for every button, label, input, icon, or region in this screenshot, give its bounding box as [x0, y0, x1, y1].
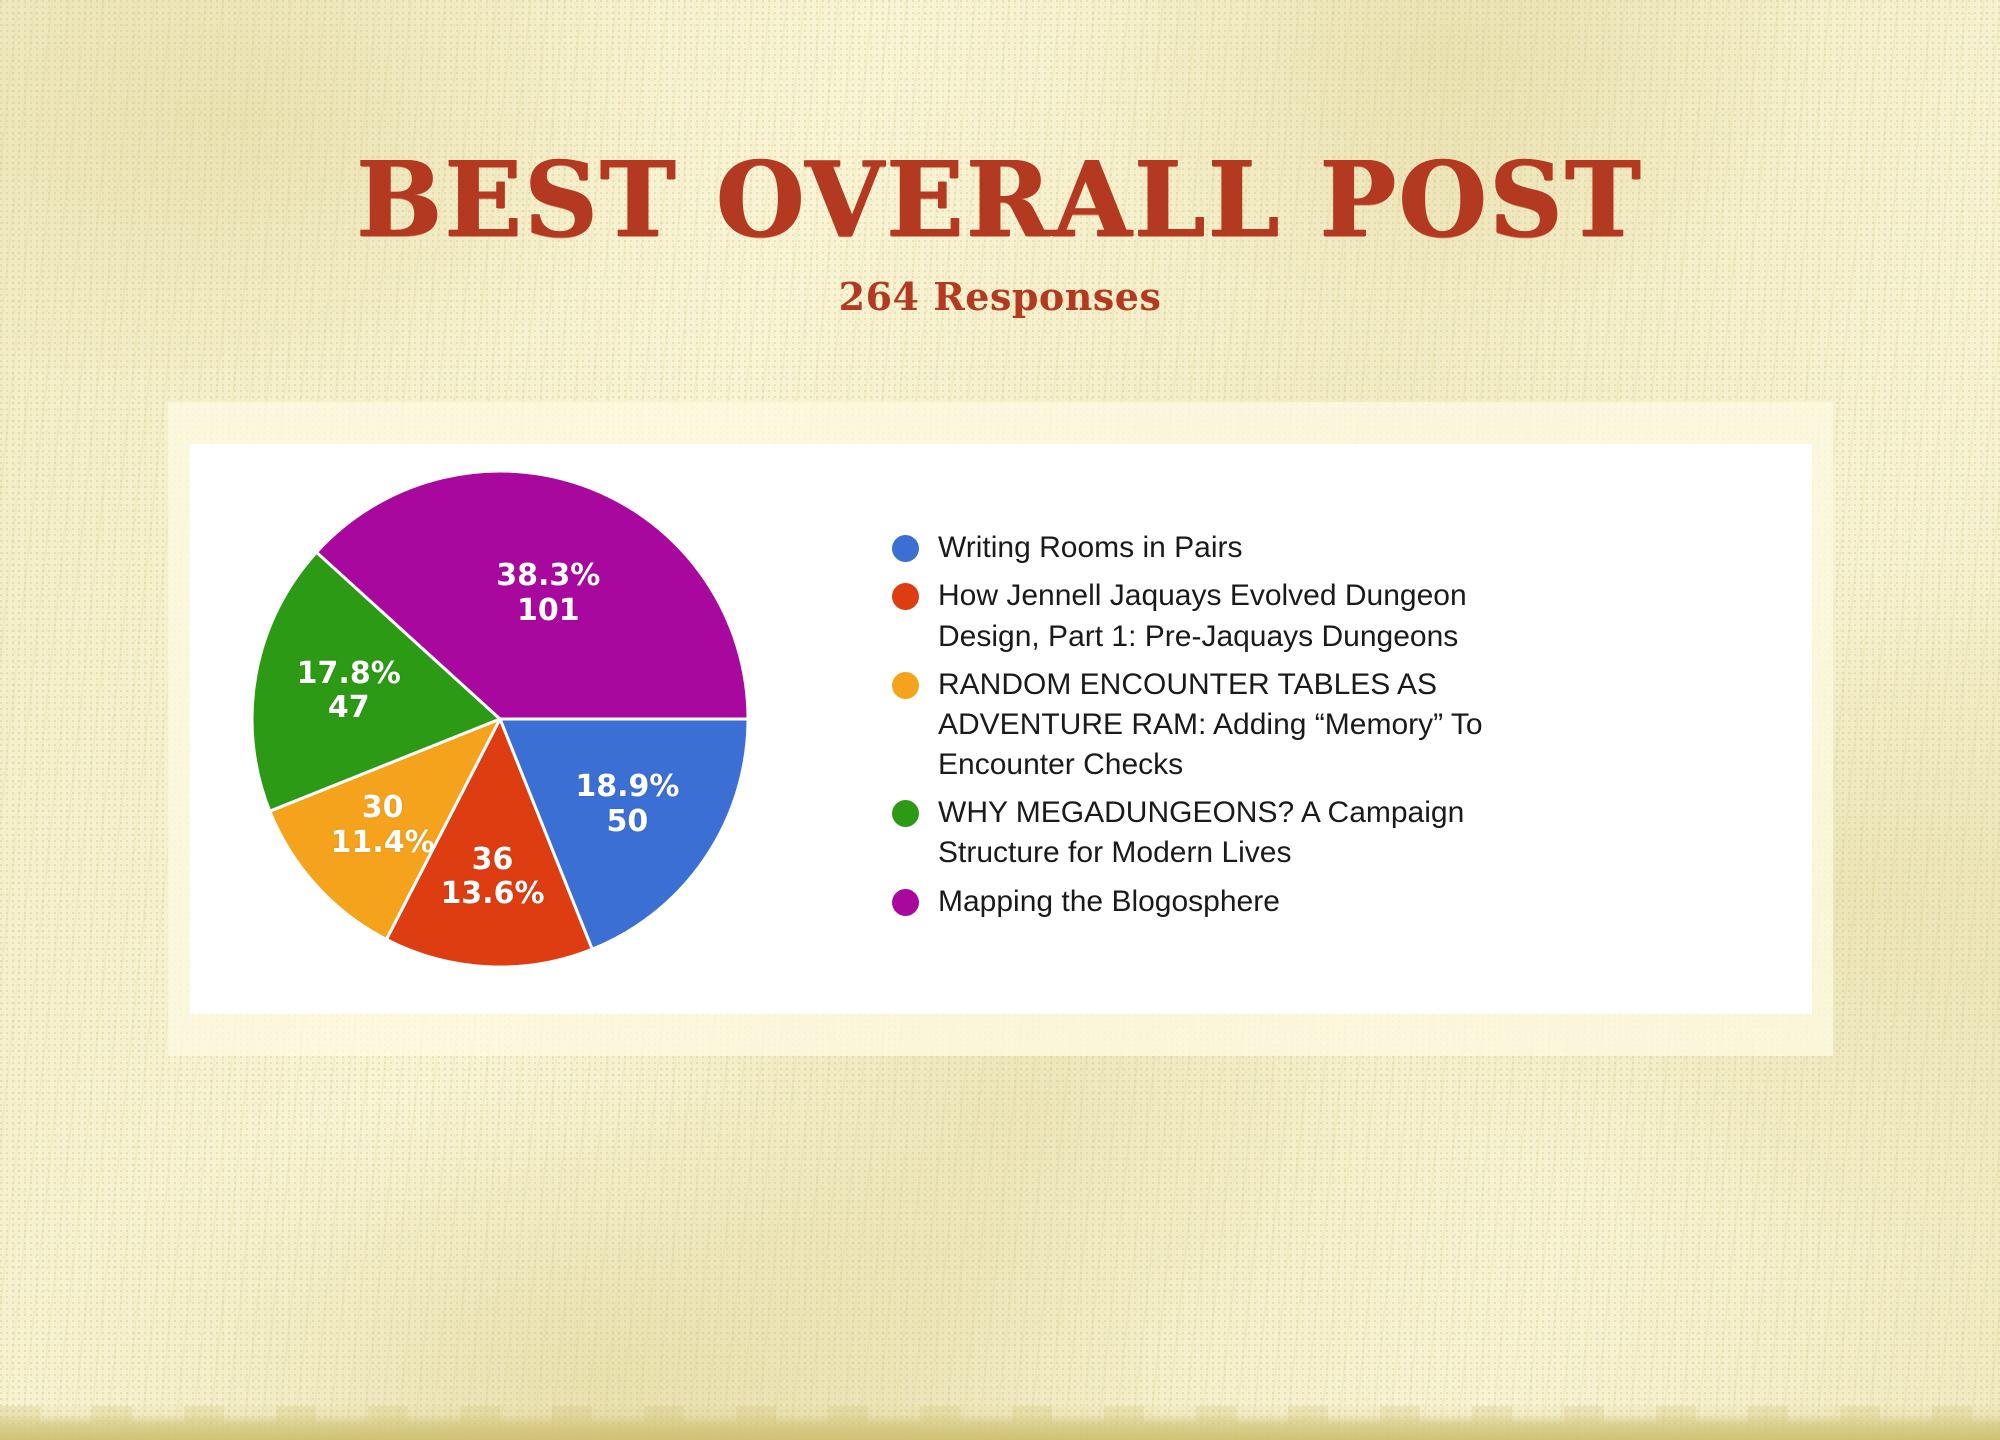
pie-chart-svg: [250, 469, 750, 969]
legend-item[interactable]: How Jennell Jaquays Evolved Dungeon Desi…: [892, 576, 1772, 656]
page-title: BEST OVERALL POST: [30, 148, 1970, 252]
legend-item-label: Writing Rooms in Pairs: [938, 528, 1243, 568]
legend-color-swatch-icon: [892, 535, 919, 562]
response-count-subtitle: 264 Responses: [0, 274, 2000, 319]
legend-color-swatch-icon: [892, 672, 919, 699]
legend-item-label: Mapping the Blogosphere: [938, 882, 1280, 922]
legend-item-label: RANDOM ENCOUNTER TABLES AS ADVENTURE RAM…: [938, 665, 1538, 786]
chart-legend: Writing Rooms in PairsHow Jennell Jaquay…: [830, 528, 1812, 930]
pie-slice-group: [252, 471, 748, 967]
header: BEST OVERALL POST 264 Responses: [0, 0, 2000, 319]
legend-item[interactable]: WHY MEGADUNGEONS? A Campaign Structure f…: [892, 793, 1772, 873]
legend-item[interactable]: Writing Rooms in Pairs: [892, 528, 1772, 568]
legend-color-swatch-icon: [892, 889, 919, 916]
legend-item-label: How Jennell Jaquays Evolved Dungeon Desi…: [938, 576, 1538, 656]
chart-card: 18.9%503613.6%3011.4%17.8%4738.3%101 Wri…: [190, 444, 1812, 1014]
pie-chart: 18.9%503613.6%3011.4%17.8%4738.3%101: [190, 444, 830, 1014]
legend-color-swatch-icon: [892, 800, 919, 827]
legend-item[interactable]: Mapping the Blogosphere: [892, 882, 1772, 922]
legend-item[interactable]: RANDOM ENCOUNTER TABLES AS ADVENTURE RAM…: [892, 665, 1772, 786]
legend-item-label: WHY MEGADUNGEONS? A Campaign Structure f…: [938, 793, 1538, 873]
background-bottom-band: [0, 1414, 2000, 1440]
legend-color-swatch-icon: [892, 583, 919, 610]
